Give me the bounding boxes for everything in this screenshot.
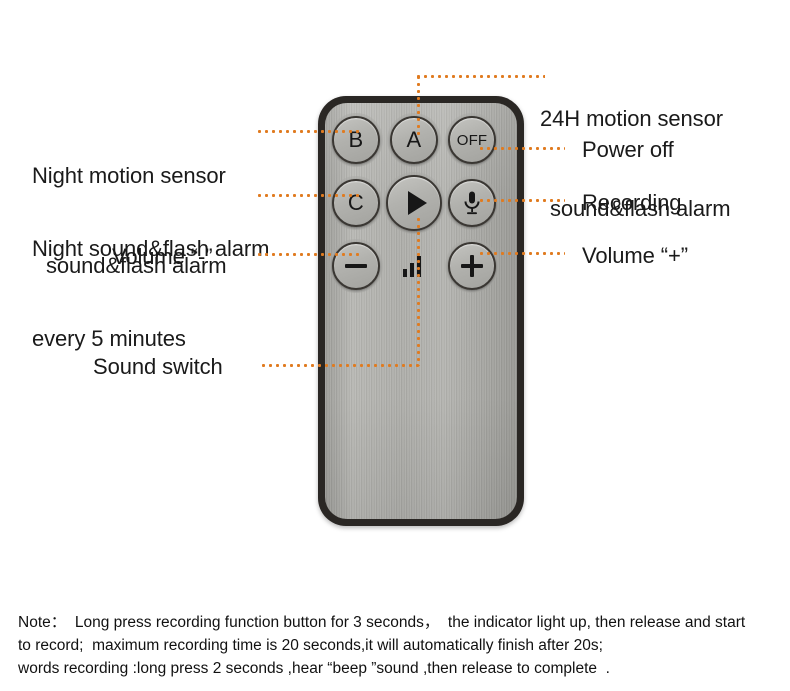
note-line-2: to record; maximum recording time is 20 … <box>18 634 774 657</box>
plus-icon-vertical <box>470 255 474 277</box>
button-c[interactable]: C <box>332 179 380 227</box>
note-line-1: Note： Long press recording function butt… <box>18 611 774 634</box>
signal-bar-1 <box>403 269 407 277</box>
leader-line-24h-horizontal <box>417 75 545 78</box>
remote-control-body: B A OFF C <box>318 96 524 526</box>
callout-night-alarm-line2: every 5 minutes <box>32 324 300 354</box>
play-icon <box>408 191 427 215</box>
button-a[interactable]: A <box>390 116 438 164</box>
minus-icon <box>345 264 367 268</box>
leader-line-sound-switch-vertical <box>417 218 420 366</box>
button-microphone[interactable] <box>448 179 496 227</box>
callout-recording: Recording <box>582 188 681 218</box>
leader-line-volume-plus <box>480 252 565 255</box>
leader-line-24h-vertical <box>417 76 420 136</box>
keypad: B A OFF C <box>332 114 496 300</box>
leader-line-power-off <box>480 147 565 150</box>
leader-line-night-motion <box>258 130 362 133</box>
callout-sound-switch: Sound switch <box>93 352 223 382</box>
callout-volume-plus: Volume “+” <box>582 241 688 271</box>
button-off-label: OFF <box>457 133 488 148</box>
callout-24h-line1: 24H motion sensor <box>540 104 780 134</box>
button-play[interactable] <box>386 175 442 231</box>
keypad-row-1: B A OFF <box>332 114 496 166</box>
leader-line-night-alarm <box>258 194 362 197</box>
sound-switch-icon[interactable] <box>403 255 425 277</box>
remote-control-diagram: B A OFF C <box>0 0 790 691</box>
leader-line-recording <box>480 199 565 202</box>
button-volume-minus[interactable] <box>332 242 380 290</box>
microphone-icon <box>460 190 484 216</box>
callout-volume-minus: Volume “-” <box>112 242 212 272</box>
note-line-3: words recording :long press 2 seconds ,h… <box>18 657 774 680</box>
callout-power-off: Power off <box>582 135 674 165</box>
leader-line-volume-minus <box>258 253 362 256</box>
signal-bar-2 <box>410 263 414 277</box>
keypad-row-2: C <box>332 174 496 232</box>
button-b[interactable]: B <box>332 116 380 164</box>
button-off[interactable]: OFF <box>448 116 496 164</box>
note-block: Note： Long press recording function butt… <box>18 611 774 680</box>
keypad-row-3 <box>332 240 496 292</box>
button-volume-plus[interactable] <box>448 242 496 290</box>
leader-line-sound-switch-horizontal <box>262 364 419 367</box>
